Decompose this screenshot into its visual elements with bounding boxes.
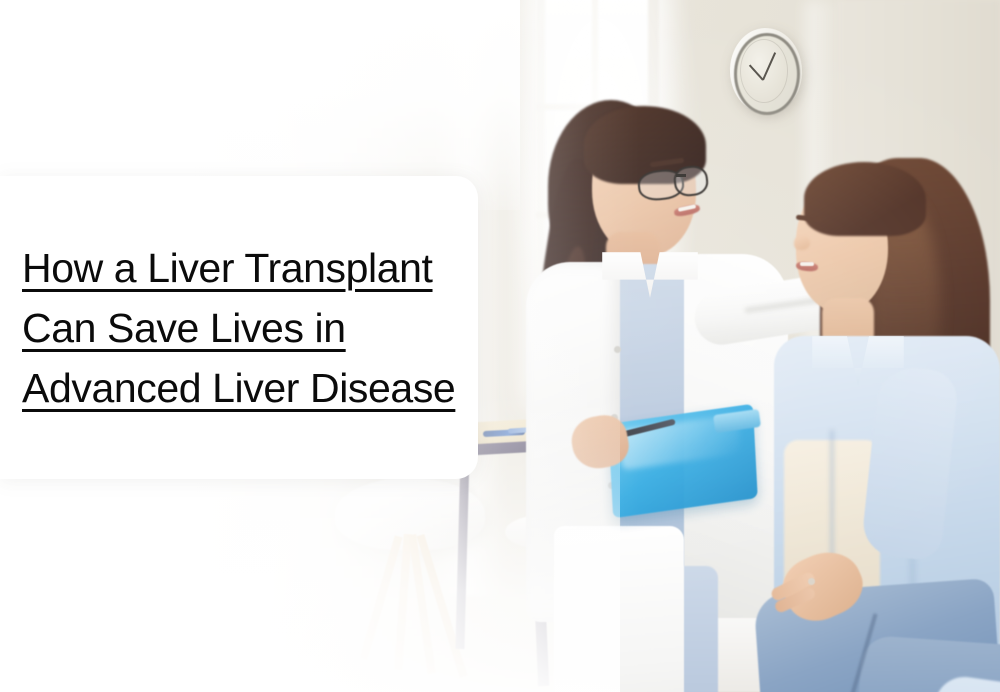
patient-teeth <box>800 262 814 266</box>
patient-figure <box>760 140 1000 692</box>
doctor-coat-button-1 <box>614 346 621 353</box>
title-card: How a Liver Transplant Can Save Lives in… <box>0 176 478 479</box>
doctor-figure <box>498 96 788 692</box>
doctor-eyeglass-bridge <box>676 174 686 177</box>
patient-hair-front <box>804 162 926 236</box>
article-title[interactable]: How a Liver Transplant Can Save Lives in… <box>22 238 470 418</box>
wall-clock-ticks <box>740 39 788 103</box>
title-card-inner: How a Liver Transplant Can Save Lives in… <box>0 238 478 418</box>
patient-ring <box>808 578 815 585</box>
doctor-eyeglass-lens-right <box>673 164 710 197</box>
doctor-lab-coat-hem <box>554 526 684 692</box>
patient-nose <box>794 236 810 250</box>
hero-banner: How a Liver Transplant Can Save Lives in… <box>0 0 1000 692</box>
